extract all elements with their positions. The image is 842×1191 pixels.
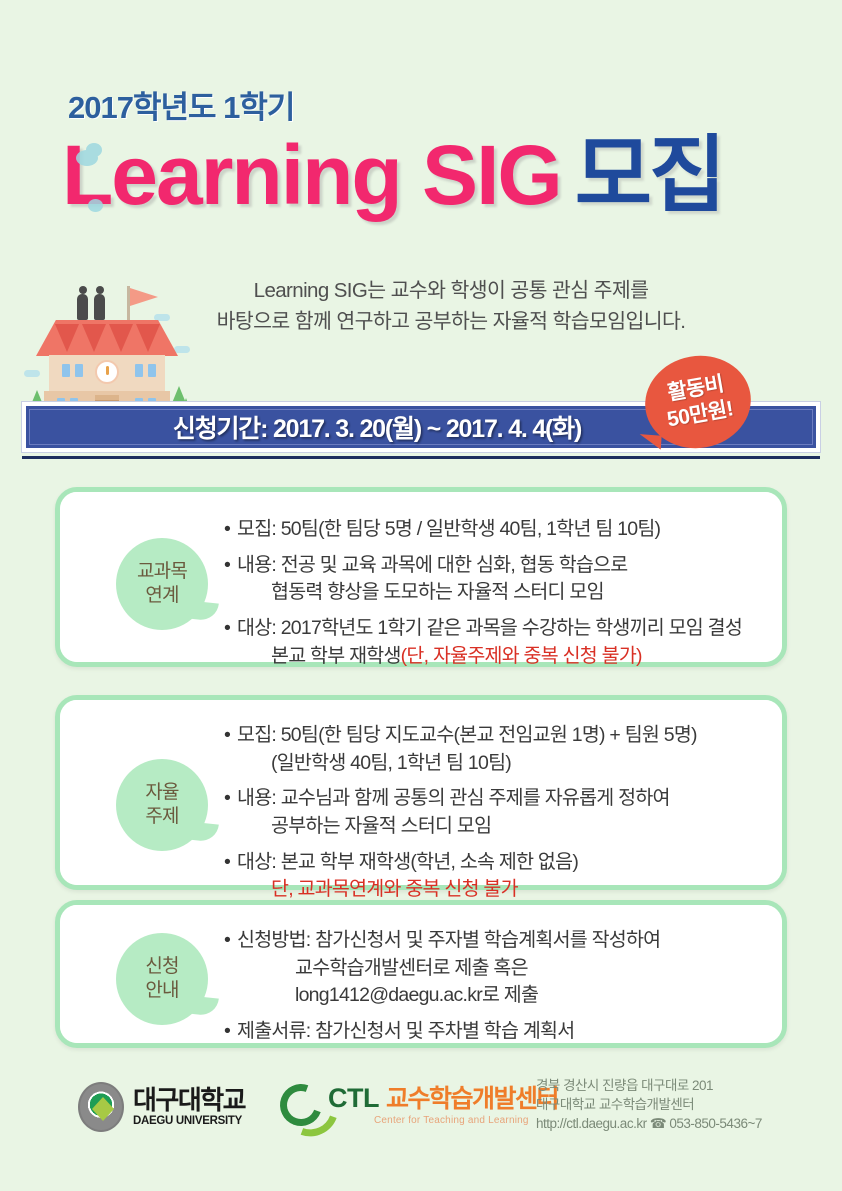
page-title: Learning SIG 모집 xyxy=(62,131,842,219)
application-email[interactable]: long1412@daegu.ac.kr로 제출 xyxy=(237,982,760,1010)
cloud-icon xyxy=(24,370,40,377)
list-item: • 모집: 50팀(한 팀당 5명 / 일반학생 40팀, 1학년 팀 10팀) xyxy=(224,516,760,544)
cloud-decoration-icon xyxy=(76,150,98,166)
section-application-guide-content: • 신청방법: 참가신청서 및 주자별 학습계획서를 작성하여 교수학습개발센터… xyxy=(224,927,760,1054)
list-item-line-2: 공부하는 자율적 스터디 모임 xyxy=(237,813,760,841)
bullet-icon: • xyxy=(224,849,237,904)
university-name-en: DAEGU UNIVERSITY xyxy=(133,1116,245,1128)
section-application-guide: 신청 안내 • 신청방법: 참가신청서 및 주자별 학습계획서를 작성하여 교수… xyxy=(55,900,787,1048)
list-item: • 모집: 50팀(한 팀당 지도교수(본교 전임교원 1명) + 팀원 5명)… xyxy=(224,722,760,777)
title-sub: 모집 xyxy=(575,131,724,219)
footer-contact-line[interactable]: http://ctl.daegu.ac.kr ☎ 053-850-5436~7 xyxy=(536,1114,762,1133)
cloud-decoration-small-icon xyxy=(88,199,103,212)
university-seal-icon xyxy=(78,1082,124,1132)
window-icon xyxy=(148,364,156,377)
window-icon xyxy=(135,364,143,377)
ctl-wordmark: CTL 교수학습개발센터 Center for Teaching and Lea… xyxy=(328,1084,558,1127)
section-free-topic: 자율 주제 • 모집: 50팀(한 팀당 지도교수(본교 전임교원 1명) + … xyxy=(55,695,787,890)
footer: 대구대학교 DAEGU UNIVERSITY CTL 교수학습개발센터 Cent… xyxy=(0,1078,842,1158)
bullet-icon: • xyxy=(224,785,237,840)
list-item-text: 모집: 50팀(한 팀당 지도교수(본교 전임교원 1명) + 팀원 5명) (… xyxy=(237,722,760,777)
bubble-line-2: 연계 xyxy=(145,584,178,608)
bubble-line-2: 안내 xyxy=(145,979,178,1003)
daegu-university-logo: 대구대학교 DAEGU UNIVERSITY xyxy=(78,1082,245,1132)
banner-underline xyxy=(22,456,820,459)
bullet-icon: • xyxy=(224,552,237,607)
window-icon xyxy=(75,364,83,377)
ctl-ring-icon xyxy=(273,1078,329,1134)
list-item-line-2: (일반학생 40팀, 1학년 팀 10팀) xyxy=(237,750,760,778)
description-line-2: 바탕으로 함께 연구하고 공부하는 자율적 학습모임입니다. xyxy=(60,307,842,338)
clock-icon xyxy=(95,360,119,384)
ctl-wordmark-top: CTL 교수학습개발센터 xyxy=(328,1084,558,1112)
list-item-line-2: 협동력 향상을 도모하는 자율적 스터디 모임 xyxy=(237,579,760,607)
section-curriculum: 교과목 연계 • 모집: 50팀(한 팀당 5명 / 일반학생 40팀, 1학년… xyxy=(55,487,787,667)
bullet-icon: • xyxy=(224,615,237,670)
bubble-line-2: 주제 xyxy=(145,805,178,829)
section-label-free-topic: 자율 주제 xyxy=(116,759,208,851)
window-icon xyxy=(62,364,70,377)
bullet-icon: • xyxy=(224,927,237,1010)
list-item-line-1: 대상: 본교 학부 재학생(학년, 소속 제한 없음) xyxy=(237,851,578,873)
bubble-line-1: 신청 xyxy=(145,955,178,979)
warning-text: (단, 자율주제와 중복 신청 불가) xyxy=(401,645,642,667)
list-item-line-1: 신청방법: 참가신청서 및 주자별 학습계획서를 작성하여 xyxy=(237,929,660,951)
list-item-line-2: 본교 학부 재학생(단, 자율주제와 중복 신청 불가) xyxy=(237,643,760,671)
footer-contact-info: 경북 경산시 진량읍 대구대로 201 대구대학교 교수학습개발센터 http:… xyxy=(536,1076,762,1133)
section-curriculum-content: • 모집: 50팀(한 팀당 5명 / 일반학생 40팀, 1학년 팀 10팀)… xyxy=(224,516,760,678)
list-item: • 내용: 전공 및 교육 과목에 대한 심화, 협동 학습으로 협동력 향상을… xyxy=(224,552,760,607)
section-application-guide-inner: 신청 안내 • 신청방법: 참가신청서 및 주자별 학습계획서를 작성하여 교수… xyxy=(60,905,782,1043)
poster-root: 2017학년도 1학기 Learning SIG 모집 xyxy=(0,0,842,1191)
footer-center-name: 대구대학교 교수학습개발센터 xyxy=(536,1095,762,1114)
title-main: Learning SIG xyxy=(62,131,561,219)
description-line-1: Learning SIG는 교수와 학생이 공통 관심 주제를 xyxy=(60,276,842,307)
section-label-curriculum: 교과목 연계 xyxy=(116,538,208,630)
university-name-kr: 대구대학교 xyxy=(133,1087,245,1113)
list-item: • 신청방법: 참가신청서 및 주자별 학습계획서를 작성하여 교수학습개발센터… xyxy=(224,927,760,1010)
list-item-prefix: 본교 학부 재학생 xyxy=(271,645,401,667)
description-text: Learning SIG는 교수와 학생이 공통 관심 주제를 바탕으로 함께 … xyxy=(0,276,842,338)
footer-address: 경북 경산시 진량읍 대구대로 201 xyxy=(536,1076,762,1095)
bullet-icon: • xyxy=(224,1018,237,1046)
list-item: • 제출서류: 참가신청서 및 주차별 학습 계획서 xyxy=(224,1018,760,1046)
bubble-line-1: 자율 xyxy=(145,781,178,805)
list-item-line-1: 내용: 교수님과 함께 공통의 관심 주제를 자유롭게 정하여 xyxy=(237,787,670,809)
section-free-topic-inner: 자율 주제 • 모집: 50팀(한 팀당 지도교수(본교 전임교원 1명) + … xyxy=(60,700,782,885)
list-item-line-1: 대상: 2017학년도 1학기 같은 과목을 수강하는 학생끼리 모임 결성 xyxy=(237,617,742,639)
ctl-name-kr: 교수학습개발센터 xyxy=(386,1086,558,1112)
bullet-icon: • xyxy=(224,722,237,777)
list-item: • 내용: 교수님과 함께 공통의 관심 주제를 자유롭게 정하여 공부하는 자… xyxy=(224,785,760,840)
bubble-line-1: 교과목 xyxy=(137,560,187,584)
eyebrow-text: 2017학년도 1학기 xyxy=(68,82,842,127)
list-item-text: 신청방법: 참가신청서 및 주자별 학습계획서를 작성하여 교수학습개발센터로 … xyxy=(237,927,760,1010)
list-item-text: 대상: 본교 학부 재학생(학년, 소속 제한 없음) 단, 교과목연계와 중복… xyxy=(237,849,760,904)
list-item-text: 내용: 전공 및 교육 과목에 대한 심화, 협동 학습으로 협동력 향상을 도… xyxy=(237,552,760,607)
list-item-text: 대상: 2017학년도 1학기 같은 과목을 수강하는 학생끼리 모임 결성 본… xyxy=(237,615,760,670)
section-curriculum-inner: 교과목 연계 • 모집: 50팀(한 팀당 5명 / 일반학생 40팀, 1학년… xyxy=(60,492,782,662)
list-item-text: 제출서류: 참가신청서 및 주차별 학습 계획서 xyxy=(237,1018,760,1046)
header: 2017학년도 1학기 Learning SIG 모집 xyxy=(0,0,842,219)
ctl-name-en: Center for Teaching and Learning xyxy=(374,1116,558,1127)
section-label-application-guide: 신청 안내 xyxy=(116,933,208,1025)
university-wordmark: 대구대학교 DAEGU UNIVERSITY xyxy=(133,1087,245,1128)
list-item-text: 내용: 교수님과 함께 공통의 관심 주제를 자유롭게 정하여 공부하는 자율적… xyxy=(237,785,760,840)
list-item: • 대상: 본교 학부 재학생(학년, 소속 제한 없음) 단, 교과목연계와 … xyxy=(224,849,760,904)
list-item: • 대상: 2017학년도 1학기 같은 과목을 수강하는 학생끼리 모임 결성… xyxy=(224,615,760,670)
section-free-topic-content: • 모집: 50팀(한 팀당 지도교수(본교 전임교원 1명) + 팀원 5명)… xyxy=(224,722,760,912)
list-item-text: 모집: 50팀(한 팀당 5명 / 일반학생 40팀, 1학년 팀 10팀) xyxy=(237,516,760,544)
list-item-line-2: 교수학습개발센터로 제출 혹은 xyxy=(237,955,760,983)
list-item-line-1: 모집: 50팀(한 팀당 지도교수(본교 전임교원 1명) + 팀원 5명) xyxy=(237,724,697,746)
ctl-logo: CTL 교수학습개발센터 Center for Teaching and Lea… xyxy=(280,1084,558,1127)
bullet-icon: • xyxy=(224,516,237,544)
list-item-line-1: 내용: 전공 및 교육 과목에 대한 심화, 협동 학습으로 xyxy=(237,554,627,576)
